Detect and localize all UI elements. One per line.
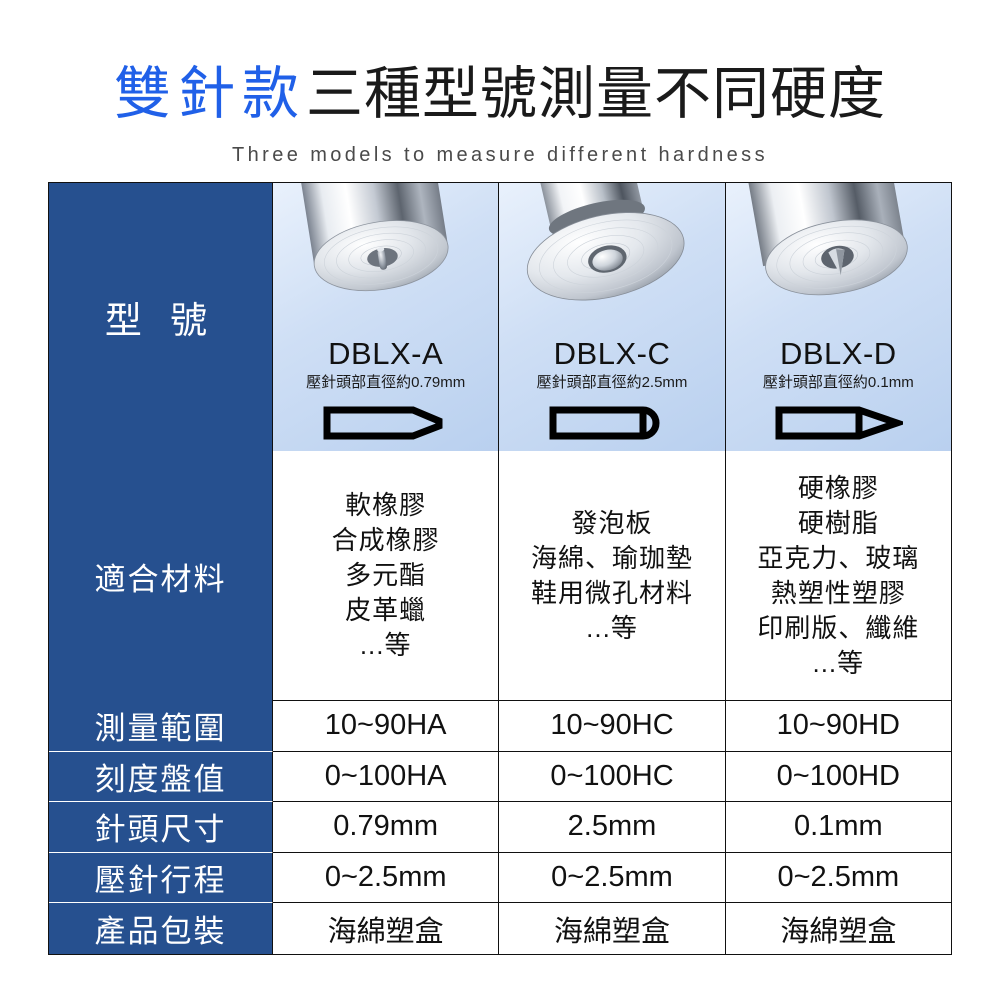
table-row-dial: 刻度盤值 0~100HA 0~100HC 0~100HD bbox=[49, 752, 951, 803]
row-label-model: 型 號 bbox=[49, 183, 273, 451]
title-highlight: 雙針款 bbox=[114, 62, 306, 126]
material-item: ...等 bbox=[332, 628, 440, 663]
row-label-packaging: 產品包裝 bbox=[49, 903, 273, 954]
tip-note-c: 壓針頭部直徑約2.5mm bbox=[537, 373, 688, 393]
material-cell-d: 硬橡膠 硬樹脂 亞克力、玻璃 熱塑性塑膠 印刷版、纖維 ...等 bbox=[726, 451, 951, 701]
dial-cell-d: 0~100HD bbox=[726, 752, 951, 803]
packaging-cell-d: 海綿塑盒 bbox=[726, 903, 951, 954]
material-list-c: 發泡板 海綿、瑜珈墊 鞋用微孔材料 ...等 bbox=[531, 506, 693, 646]
packaging-cell-c: 海綿塑盒 bbox=[499, 903, 725, 954]
row-label-material: 適合材料 bbox=[49, 451, 273, 701]
material-item: 皮革蠟 bbox=[332, 593, 440, 628]
material-cell-a: 軟橡膠 合成橡膠 多元酯 皮革蠟 ...等 bbox=[273, 451, 499, 701]
material-item: 發泡板 bbox=[531, 506, 693, 541]
title-main: 三種型號測量不同硬度 bbox=[306, 62, 886, 126]
material-item: 合成橡膠 bbox=[332, 523, 440, 558]
tip-note-a: 壓針頭部直徑約0.79mm bbox=[306, 373, 465, 393]
material-cell-c: 發泡板 海綿、瑜珈墊 鞋用微孔材料 ...等 bbox=[499, 451, 725, 701]
flat-pin-probe-photo bbox=[273, 183, 498, 333]
row-label-dial: 刻度盤值 bbox=[49, 752, 273, 803]
stroke-cell-c: 0~2.5mm bbox=[499, 853, 725, 904]
page-title: 雙針款三種型號測量不同硬度 bbox=[0, 62, 1000, 126]
dial-value-c: 0~100HC bbox=[550, 760, 673, 793]
stroke-value-a: 0~2.5mm bbox=[325, 861, 447, 894]
model-name-c: DBLX-C bbox=[554, 337, 671, 371]
rounded-dome-tip-icon bbox=[547, 403, 677, 443]
material-item: ...等 bbox=[531, 611, 693, 646]
tip-note-d: 壓針頭部直徑約0.1mm bbox=[763, 373, 914, 393]
row-label-range: 測量範圍 bbox=[49, 701, 273, 752]
material-list-d: 硬橡膠 硬樹脂 亞克力、玻璃 熱塑性塑膠 印刷版、纖維 ...等 bbox=[757, 471, 919, 681]
packaging-value-c: 海綿塑盒 bbox=[554, 908, 670, 950]
range-cell-d: 10~90HD bbox=[726, 701, 951, 752]
dial-cell-c: 0~100HC bbox=[499, 752, 725, 803]
row-label-tip-size: 針頭尺寸 bbox=[49, 802, 273, 853]
tip-size-cell-d: 0.1mm bbox=[726, 802, 951, 853]
stroke-cell-a: 0~2.5mm bbox=[273, 853, 499, 904]
material-item: 熱塑性塑膠 bbox=[757, 576, 919, 611]
truncated-cone-tip-icon bbox=[321, 403, 451, 443]
range-value-c: 10~90HC bbox=[550, 709, 673, 742]
tip-size-value-c: 2.5mm bbox=[568, 810, 657, 843]
dial-cell-a: 0~100HA bbox=[273, 752, 499, 803]
range-cell-c: 10~90HC bbox=[499, 701, 725, 752]
table-row-packaging: 產品包裝 海綿塑盒 海綿塑盒 海綿塑盒 bbox=[49, 903, 951, 954]
tip-size-value-a: 0.79mm bbox=[333, 810, 438, 843]
range-cell-a: 10~90HA bbox=[273, 701, 499, 752]
material-item: 軟橡膠 bbox=[332, 488, 440, 523]
material-item: 亞克力、玻璃 bbox=[757, 541, 919, 576]
column-a-model-cell: DBLX-A 壓針頭部直徑約0.79mm bbox=[273, 183, 499, 451]
model-name-a: DBLX-A bbox=[328, 337, 443, 371]
dial-value-a: 0~100HA bbox=[325, 760, 447, 793]
packaging-value-d: 海綿塑盒 bbox=[780, 908, 896, 950]
row-label-stroke: 壓針行程 bbox=[49, 853, 273, 904]
table-row-model: 型 號 bbox=[49, 183, 951, 451]
tip-size-cell-a: 0.79mm bbox=[273, 802, 499, 853]
tip-size-value-d: 0.1mm bbox=[794, 810, 883, 843]
table-row-material: 適合材料 軟橡膠 合成橡膠 多元酯 皮革蠟 ...等 發泡板 海綿、瑜珈墊 鞋用… bbox=[49, 451, 951, 701]
material-item: 多元酯 bbox=[332, 558, 440, 593]
stroke-cell-d: 0~2.5mm bbox=[726, 853, 951, 904]
page-subtitle: Three models to measure different hardne… bbox=[0, 144, 1000, 167]
column-d-model-cell: DBLX-D 壓針頭部直徑約0.1mm bbox=[726, 183, 951, 451]
range-value-a: 10~90HA bbox=[325, 709, 447, 742]
column-c-model-cell: DBLX-C 壓針頭部直徑約2.5mm bbox=[499, 183, 725, 451]
material-item: ...等 bbox=[757, 646, 919, 681]
table-row-range: 測量範圍 10~90HA 10~90HC 10~90HD bbox=[49, 701, 951, 752]
tip-size-cell-c: 2.5mm bbox=[499, 802, 725, 853]
material-item: 硬樹脂 bbox=[757, 506, 919, 541]
stroke-value-c: 0~2.5mm bbox=[551, 861, 673, 894]
needle-tip-probe-photo bbox=[726, 183, 951, 333]
table-row-stroke: 壓針行程 0~2.5mm 0~2.5mm 0~2.5mm bbox=[49, 853, 951, 904]
material-item: 海綿、瑜珈墊 bbox=[531, 541, 693, 576]
material-item: 硬橡膠 bbox=[757, 471, 919, 506]
stroke-value-d: 0~2.5mm bbox=[777, 861, 899, 894]
dome-tip-probe-photo bbox=[499, 183, 724, 333]
table-row-tip-size: 針頭尺寸 0.79mm 2.5mm 0.1mm bbox=[49, 802, 951, 853]
packaging-value-a: 海綿塑盒 bbox=[328, 908, 444, 950]
comparison-table: 型 號 bbox=[48, 182, 952, 955]
material-item: 印刷版、纖維 bbox=[757, 611, 919, 646]
dial-value-d: 0~100HD bbox=[777, 760, 900, 793]
packaging-cell-a: 海綿塑盒 bbox=[273, 903, 499, 954]
material-list-a: 軟橡膠 合成橡膠 多元酯 皮革蠟 ...等 bbox=[332, 488, 440, 663]
material-item: 鞋用微孔材料 bbox=[531, 576, 693, 611]
model-name-d: DBLX-D bbox=[780, 337, 897, 371]
range-value-d: 10~90HD bbox=[777, 709, 900, 742]
sharp-point-tip-icon bbox=[773, 403, 903, 443]
